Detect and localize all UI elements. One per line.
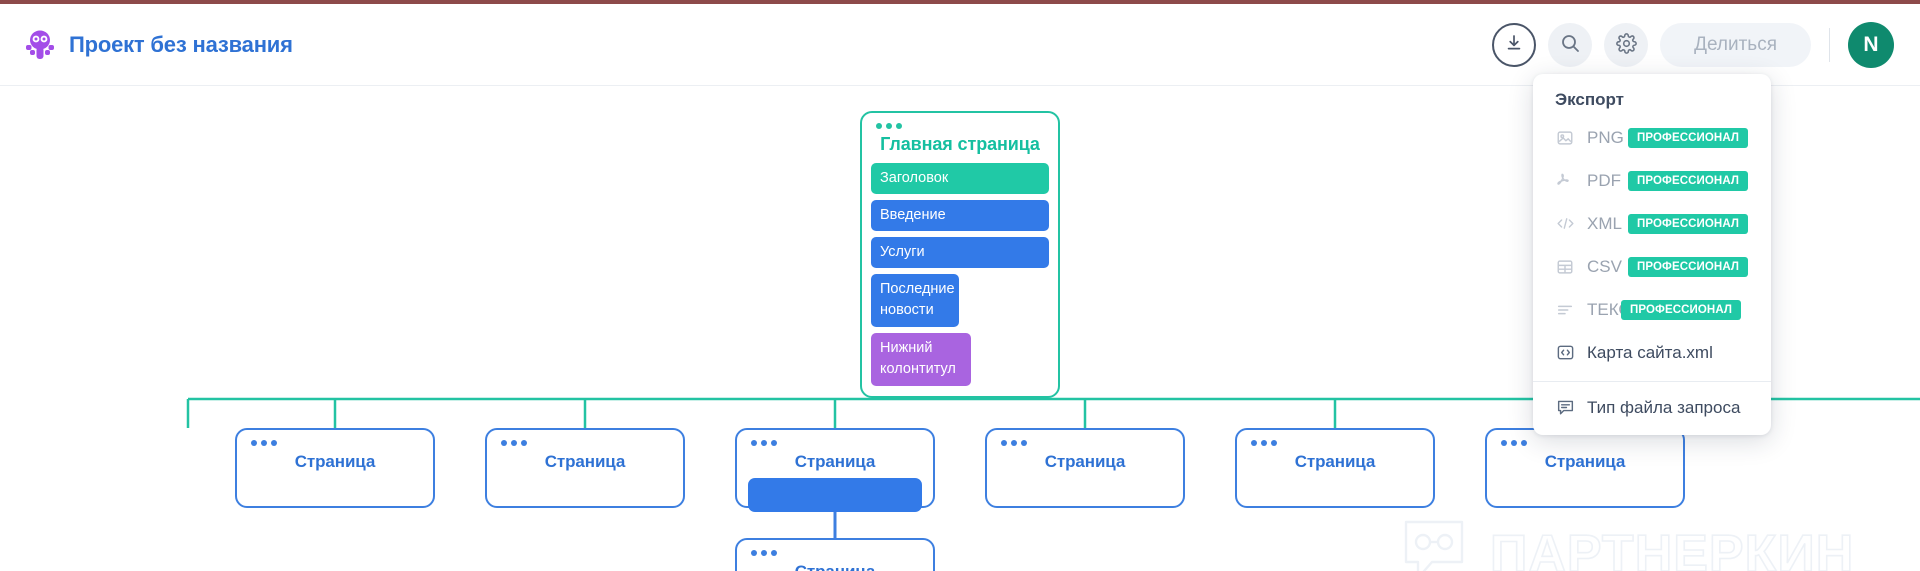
pdf-icon xyxy=(1555,171,1575,191)
download-icon xyxy=(1504,33,1524,56)
node-title: Страница xyxy=(237,430,433,472)
export-title: Экспорт xyxy=(1533,90,1771,116)
sitemap-code-icon xyxy=(1555,343,1575,363)
sitemap-child-node[interactable]: Страница xyxy=(1485,428,1685,508)
node-menu-dots-icon[interactable] xyxy=(1251,440,1277,446)
export-item-label: CSV xyxy=(1587,257,1622,277)
node-title: Страница xyxy=(487,430,683,472)
table-icon xyxy=(1555,257,1575,277)
sitemap-grandchild-node[interactable]: Страница xyxy=(735,538,935,571)
header-actions: Делиться N xyxy=(1492,22,1920,68)
search-button[interactable] xyxy=(1548,23,1592,67)
node-menu-dots-icon[interactable] xyxy=(876,123,902,129)
sitemap-child-node[interactable]: Страница xyxy=(735,428,935,508)
brand[interactable]: Проект без названия xyxy=(0,29,293,61)
pro-badge: ПРОФЕССИОНАЛ xyxy=(1628,257,1748,277)
node-menu-dots-icon[interactable] xyxy=(751,550,777,556)
download-button[interactable] xyxy=(1492,23,1536,67)
node-menu-dots-icon[interactable] xyxy=(751,440,777,446)
code-icon xyxy=(1555,214,1575,234)
root-block-list: Заголовок Введение Услуги Последние ново… xyxy=(862,155,1058,396)
node-menu-dots-icon[interactable] xyxy=(501,440,527,446)
page-block[interactable]: Услуги xyxy=(871,237,1049,268)
settings-button[interactable] xyxy=(1604,23,1648,67)
export-item-sitemap-xml[interactable]: Карта сайта.xml xyxy=(1533,331,1771,374)
node-title: Страница xyxy=(1487,430,1683,472)
avatar[interactable]: N xyxy=(1848,22,1894,68)
pro-badge: ПРОФЕССИОНАЛ xyxy=(1628,214,1748,234)
page-block[interactable]: Введение xyxy=(871,200,1049,231)
export-item-xml[interactable]: XML ПРОФЕССИОНАЛ xyxy=(1533,202,1771,245)
pro-badge: ПРОФЕССИОНАЛ xyxy=(1621,300,1741,320)
node-title: Страница xyxy=(987,430,1183,472)
export-item-label: PNG xyxy=(1587,128,1624,148)
page-block[interactable]: Нижний колонтитул xyxy=(871,333,971,386)
request-file-icon xyxy=(1555,398,1575,418)
page-block[interactable]: Заголовок xyxy=(871,163,1049,194)
export-item-text[interactable]: ТЕКСТ ПРОФЕССИОНАЛ xyxy=(1533,288,1771,331)
export-item-csv[interactable]: CSV ПРОФЕССИОНАЛ xyxy=(1533,245,1771,288)
page-title: Проект без названия xyxy=(69,32,293,58)
export-item-label: Тип файла запроса xyxy=(1587,398,1740,418)
page-block[interactable]: Последние новости xyxy=(871,274,959,327)
octopus-logo-icon xyxy=(25,29,55,61)
export-item-png[interactable]: PNG ПРОФЕССИОНАЛ xyxy=(1533,116,1771,159)
node-title: Страница xyxy=(737,430,933,472)
header-divider xyxy=(1829,28,1830,62)
export-item-label: PDF xyxy=(1587,171,1621,191)
image-icon xyxy=(1555,128,1575,148)
export-item-label: XML xyxy=(1587,214,1622,234)
pro-badge: ПРОФЕССИОНАЛ xyxy=(1628,128,1748,148)
export-item-label: Карта сайта.xml xyxy=(1587,343,1713,363)
sitemap-child-node[interactable]: Страница xyxy=(235,428,435,508)
pro-badge: ПРОФЕССИОНАЛ xyxy=(1628,171,1748,191)
sitemap-child-node[interactable]: Страница xyxy=(985,428,1185,508)
sitemap-root-node[interactable]: Главная страница Заголовок Введение Услу… xyxy=(860,111,1060,398)
export-divider xyxy=(1533,381,1771,382)
share-button[interactable]: Делиться xyxy=(1660,23,1811,67)
page-block[interactable] xyxy=(748,478,922,512)
node-menu-dots-icon[interactable] xyxy=(1001,440,1027,446)
sitemap-child-node[interactable]: Страница xyxy=(1235,428,1435,508)
node-title: Страница xyxy=(1237,430,1433,472)
export-item-request-file-type[interactable]: Тип файла запроса xyxy=(1533,386,1771,429)
text-lines-icon xyxy=(1555,300,1575,320)
node-menu-dots-icon[interactable] xyxy=(251,440,277,446)
sitemap-child-node[interactable]: Страница xyxy=(485,428,685,508)
gear-icon xyxy=(1616,33,1637,57)
node-title: Главная страница xyxy=(862,113,1058,155)
export-item-pdf[interactable]: PDF ПРОФЕССИОНАЛ xyxy=(1533,159,1771,202)
search-icon xyxy=(1560,33,1581,57)
export-dropdown[interactable]: Экспорт PNG ПРОФЕССИОНАЛ PDF ПРОФЕССИОНА… xyxy=(1533,74,1771,435)
node-menu-dots-icon[interactable] xyxy=(1501,440,1527,446)
